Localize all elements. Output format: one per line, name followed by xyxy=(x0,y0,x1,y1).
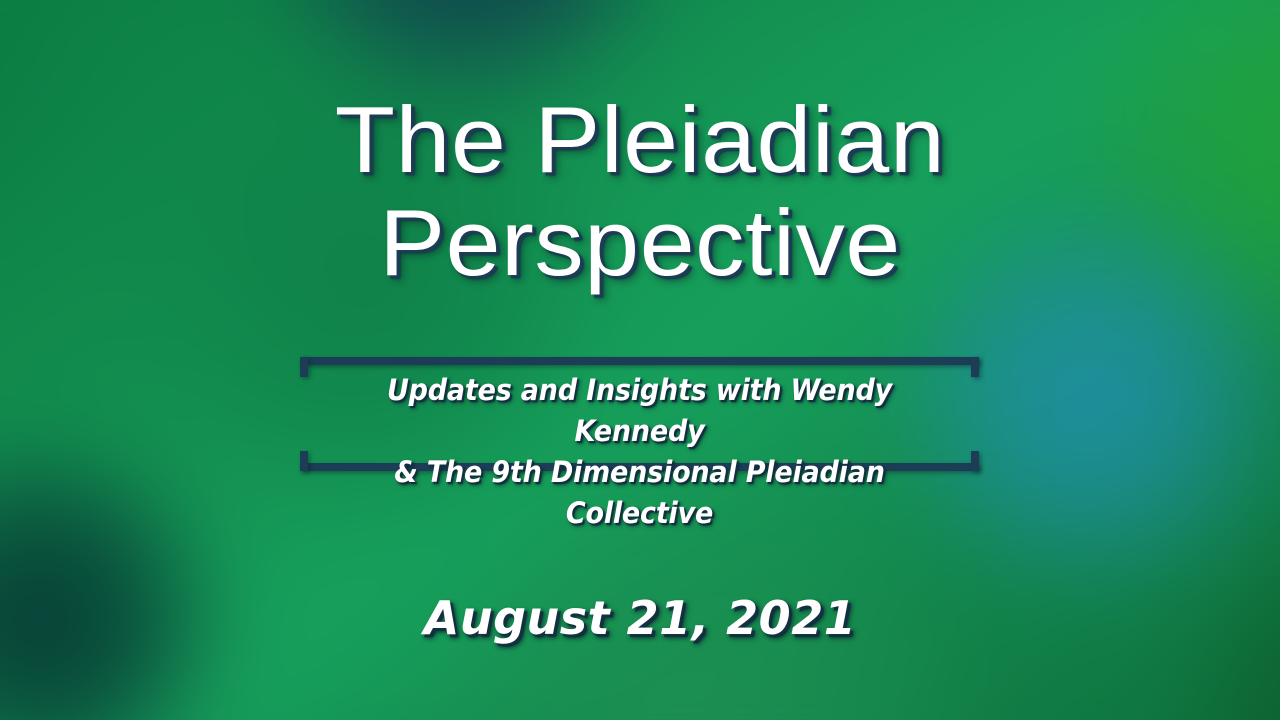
title-line-2: Perspective xyxy=(0,200,1280,289)
title-line-1: The Pleiadian xyxy=(0,97,1280,186)
subtitle-line-2: & The 9th Dimensional Pleiadian Collecti… xyxy=(324,452,955,534)
subtitle-line-1: Updates and Insights with Wendy Kennedy xyxy=(324,370,955,452)
subtitle-bracket-frame: Updates and Insights with Wendy Kennedy … xyxy=(300,357,979,471)
slide-date: August 21, 2021 xyxy=(0,589,1280,647)
title-slide: The Pleiadian Perspective Updates and In… xyxy=(0,0,1280,720)
subtitle: Updates and Insights with Wendy Kennedy … xyxy=(300,370,979,534)
frame-top-bar xyxy=(300,357,979,365)
page-title: The Pleiadian Perspective xyxy=(0,101,1280,285)
